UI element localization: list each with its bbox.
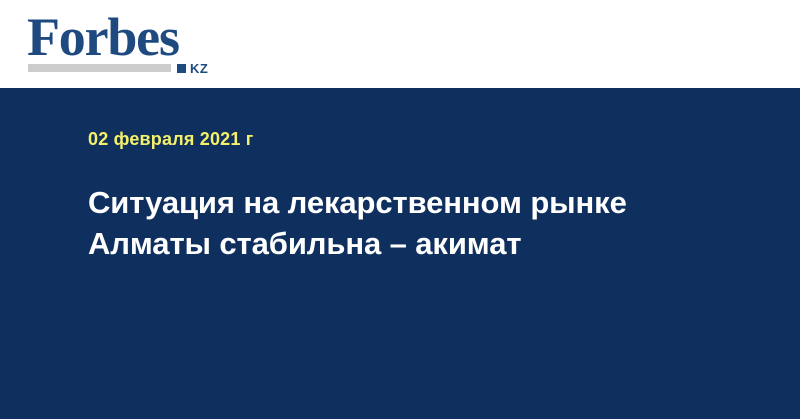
brand-wordmark: Forbes: [27, 10, 179, 64]
brand-square-icon: [177, 64, 186, 73]
forbes-kz-logo[interactable]: Forbes KZ: [27, 10, 227, 78]
article-preview-card: Forbes KZ 02 февраля 2021 г Ситуация на …: [0, 0, 800, 419]
publication-date: 02 февраля 2021 г: [88, 128, 254, 150]
site-header: Forbes KZ: [0, 0, 800, 88]
article-headline[interactable]: Ситуация на лекарственном рынке Алматы с…: [88, 182, 668, 264]
brand-rule-icon: [28, 64, 171, 72]
brand-kz-label: KZ: [190, 62, 208, 75]
